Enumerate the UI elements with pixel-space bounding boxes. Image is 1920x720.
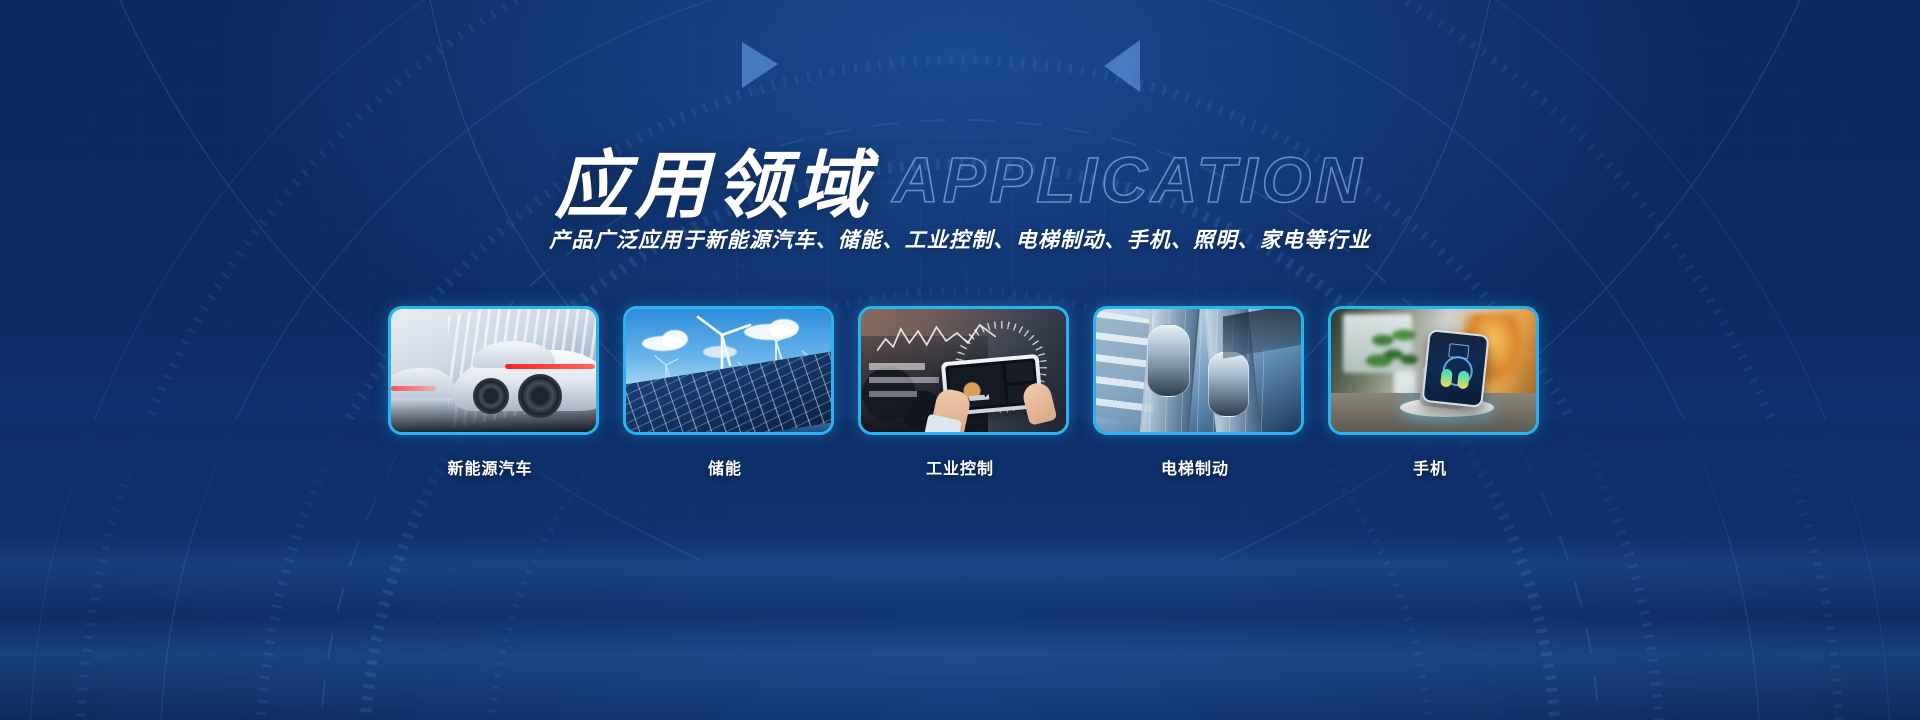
elevator-icon <box>1096 309 1301 432</box>
thumbnail-industrial-control[interactable] <box>858 306 1069 435</box>
page-title: 应用领域APPLICATION <box>0 126 1920 233</box>
application-card-industrial-control[interactable]: 工业控制 <box>858 306 1063 479</box>
car-icon <box>391 309 596 432</box>
energy-storage-icon <box>626 309 831 432</box>
card-label: 电梯制动 <box>1093 455 1298 479</box>
page-subtitle: 产品广泛应用于新能源汽车、储能、工业控制、电梯制动、手机、照明、家电等行业 <box>0 224 1920 254</box>
application-card-energy-storage[interactable]: 储能 <box>623 306 828 479</box>
thumbnail-smartphone[interactable] <box>1328 306 1539 435</box>
application-banner: 应用领域APPLICATION 产品广泛应用于新能源汽车、储能、工业控制、电梯制… <box>0 0 1920 720</box>
page-title-cn: 应用领域 <box>554 144 874 227</box>
arc-marker-right <box>1104 40 1140 92</box>
thumbnail-energy-storage[interactable] <box>623 306 834 435</box>
industrial-icon <box>861 309 1066 432</box>
card-label: 储能 <box>623 455 828 479</box>
card-label: 新能源汽车 <box>388 455 593 479</box>
arc-marker-left <box>742 42 778 88</box>
page-title-en: APPLICATION <box>892 144 1365 216</box>
card-label: 手机 <box>1328 455 1533 479</box>
thumbnail-ev-car[interactable] <box>388 306 599 435</box>
application-card-list: 新能源汽车 <box>0 306 1920 479</box>
thumbnail-elevator[interactable] <box>1093 306 1304 435</box>
application-card-ev-car[interactable]: 新能源汽车 <box>388 306 593 479</box>
phone-icon <box>1331 309 1536 432</box>
card-label: 工业控制 <box>858 455 1063 479</box>
application-card-smartphone[interactable]: 手机 <box>1328 306 1533 479</box>
application-card-elevator[interactable]: 电梯制动 <box>1093 306 1298 479</box>
